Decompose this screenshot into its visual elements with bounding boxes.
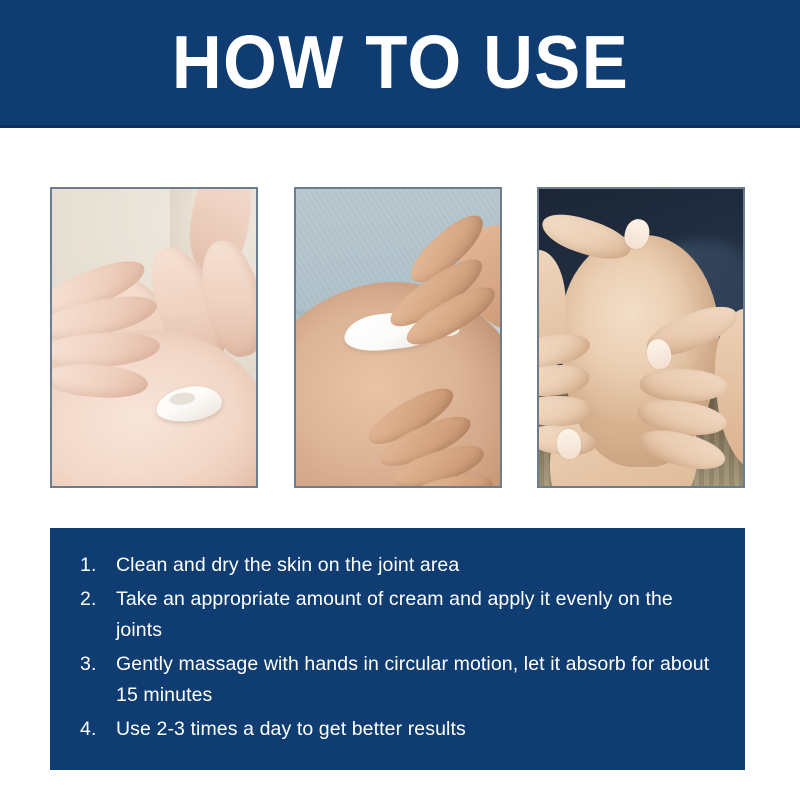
photo-hand-with-cream [50, 187, 258, 488]
instruction-step: 1. Clean and dry the skin on the joint a… [80, 550, 715, 582]
step-text: Gently massage with hands in circular mo… [116, 653, 709, 707]
header-banner: HOW TO USE [0, 0, 800, 128]
photo3-right-hand [632, 303, 743, 486]
step-number: 1. [80, 550, 110, 582]
step-number: 2. [80, 584, 110, 616]
instruction-step: 2. Take an appropriate amount of cream a… [80, 584, 715, 647]
instruction-step: 4. Use 2-3 times a day to get better res… [80, 714, 715, 746]
step-text: Use 2-3 times a day to get better result… [116, 718, 466, 740]
photo-gallery [50, 187, 745, 488]
photo3-left-finger-3 [539, 362, 591, 398]
instructions-panel: 1. Clean and dry the skin on the joint a… [50, 528, 745, 770]
step-text: Take an appropriate amount of cream and … [116, 588, 673, 642]
step-number: 3. [80, 649, 110, 681]
photo-hand-with-cream-content [52, 189, 256, 486]
photo-applying-cream-to-knee-content [296, 189, 500, 486]
step-text: Clean and dry the skin on the joint area [116, 554, 459, 576]
photo3-left-finger-4 [539, 396, 593, 426]
photo-massaging-knee [537, 187, 745, 488]
photo-applying-cream-to-knee [294, 187, 502, 488]
photo-massaging-knee-content [539, 189, 743, 486]
instruction-step: 3. Gently massage with hands in circular… [80, 649, 715, 712]
page-title: HOW TO USE [171, 25, 628, 100]
step-number: 4. [80, 714, 110, 746]
instruction-steps-list: 1. Clean and dry the skin on the joint a… [80, 550, 715, 745]
